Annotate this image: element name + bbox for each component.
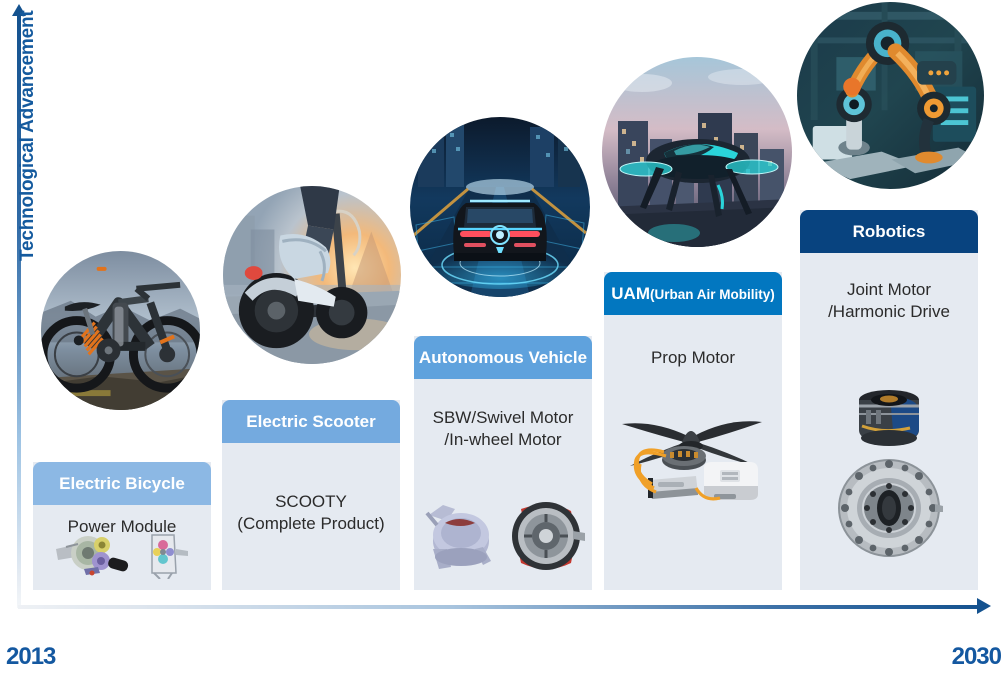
- x-axis-start-year: 2013: [6, 643, 55, 671]
- card-body-autonomous-vehicle: SBW/Swivel Motor /In-wheel Motor: [414, 379, 592, 451]
- card-header-electric-scooter: Electric Scooter: [222, 400, 400, 443]
- power-module-cutaway-illustration: [140, 529, 190, 579]
- card-title-robotics: Robotics: [853, 222, 926, 241]
- card-header-robotics: Robotics: [800, 210, 978, 253]
- y-axis-label: Technological Advancement: [17, 21, 39, 261]
- card-electric-scooter[interactable]: Electric Scooter SCOOTY (Complete Produc…: [222, 400, 400, 590]
- product-images-urban-air-mobility: [604, 404, 782, 524]
- card-title-urban-air-mobility: UAM: [611, 284, 650, 303]
- electric-scooter-photo: [223, 186, 401, 364]
- card-header-autonomous-vehicle: Autonomous Vehicle: [414, 336, 592, 379]
- card-body-electric-bicycle: Power Module: [33, 505, 211, 538]
- card-caption-autonomous-vehicle: SBW/Swivel Motor /In-wheel Motor: [420, 407, 586, 451]
- swivel-motor-illustration: [421, 491, 499, 577]
- product-images-robotics: [800, 374, 978, 574]
- urban-air-mobility-photo: [602, 57, 792, 247]
- card-urban-air-mobility[interactable]: UAM(Urban Air Mobility) Prop Motor: [604, 272, 782, 590]
- robotics-photo: [797, 2, 984, 189]
- card-electric-bicycle[interactable]: Electric Bicycle Power Module: [33, 462, 211, 590]
- in-wheel-motor-illustration: [507, 491, 585, 577]
- card-caption-robotics: Joint Motor /Harmonic Drive: [806, 279, 972, 323]
- product-images-electric-bicycle: [33, 526, 211, 582]
- product-images-autonomous-vehicle: [414, 486, 592, 582]
- card-title-autonomous-vehicle: Autonomous Vehicle: [419, 348, 587, 367]
- card-body-electric-scooter: SCOOTY (Complete Product): [222, 443, 400, 535]
- card-body-robotics: Joint Motor /Harmonic Drive: [800, 253, 978, 323]
- prop-motor-propeller-illustration: [608, 408, 778, 520]
- electric-bicycle-photo: [41, 251, 200, 410]
- card-title-electric-scooter: Electric Scooter: [246, 412, 375, 431]
- card-caption-urban-air-mobility: Prop Motor: [610, 347, 776, 369]
- card-header-urban-air-mobility: UAM(Urban Air Mobility): [604, 272, 782, 315]
- card-body-urban-air-mobility: Prop Motor: [604, 315, 782, 369]
- autonomous-vehicle-photo: [410, 117, 590, 297]
- card-header-electric-bicycle: Electric Bicycle: [33, 462, 211, 505]
- card-caption-electric-scooter: SCOOTY (Complete Product): [228, 491, 394, 535]
- joint-motor-illustration: [850, 386, 928, 448]
- x-axis-arrowhead-icon: [977, 598, 991, 614]
- card-robotics[interactable]: Robotics Joint Motor /Harmonic Drive: [800, 210, 978, 590]
- card-title-sub-urban-air-mobility: (Urban Air Mobility): [650, 287, 775, 302]
- card-title-electric-bicycle: Electric Bicycle: [59, 474, 185, 493]
- power-module-gearbox-illustration: [54, 529, 132, 579]
- card-autonomous-vehicle[interactable]: Autonomous Vehicle SBW/Swivel Motor /In-…: [414, 336, 592, 590]
- harmonic-drive-illustration: [835, 454, 943, 562]
- x-axis-line: [18, 605, 981, 609]
- x-axis-end-year: 2030: [952, 643, 1001, 671]
